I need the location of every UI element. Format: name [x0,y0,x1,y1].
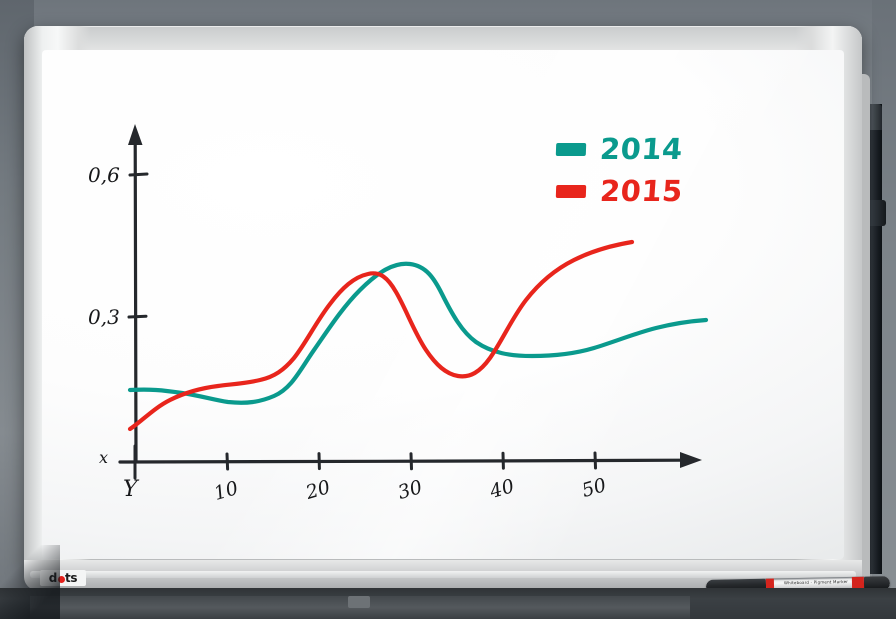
y-axis-ticks [129,174,147,317]
origin-label-y: Y [123,477,138,502]
brand-logo-text-ts: ts [65,571,77,585]
hand-drawn-line-chart [42,50,844,559]
series-line-2015 [130,242,632,429]
x-axis [120,460,682,462]
chart-legend: 2014 2015 [556,135,726,219]
legend-label-2015: 2015 [599,177,684,206]
origin-label-x: x [99,448,108,467]
pen-tray-lip [30,571,856,578]
legend-item-2014: 2014 [556,135,726,164]
desk-hardware-nub [348,596,370,608]
whiteboard-scene: 0,6 0,3 x Y 10 20 30 40 50 2014 2015 dts… [0,0,896,619]
chart-svg [42,50,844,559]
y-axis [135,140,136,462]
legend-label-2014: 2014 [599,135,684,164]
corner-shadow [0,545,60,619]
y-tick-label-03: 0,3 [88,305,120,329]
legend-swatch-2015 [556,185,586,198]
marker-label-text: Whiteboard - Pigment Marker [784,579,848,585]
x-axis-arrowhead [680,452,702,468]
legend-item-2015: 2015 [556,177,726,206]
y-axis-arrowhead [128,124,143,145]
legend-swatch-2014 [556,143,586,156]
y-tick-label-06: 0,6 [88,163,120,187]
